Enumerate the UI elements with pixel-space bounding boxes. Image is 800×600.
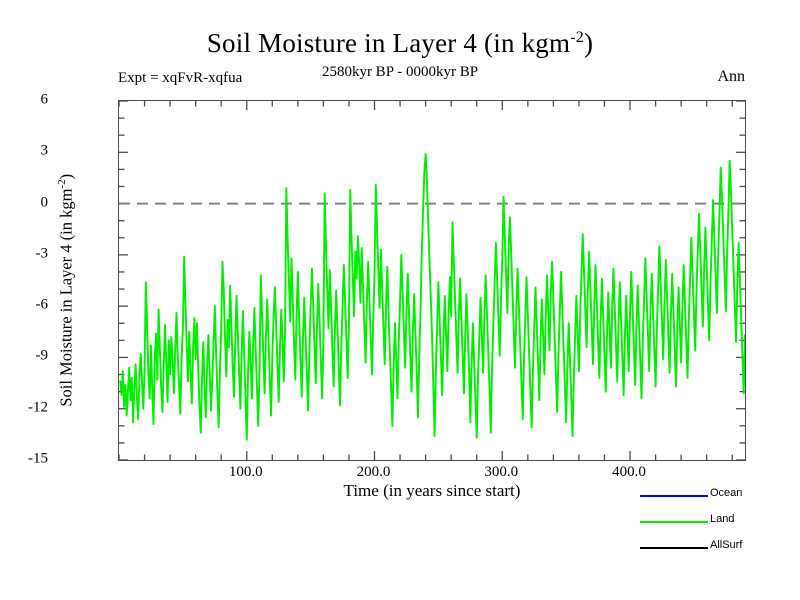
- plot-area: [118, 100, 746, 461]
- page-title-tail: ): [584, 28, 593, 58]
- y-tick-label: -15: [0, 451, 48, 468]
- series-line-land: [120, 154, 745, 439]
- legend-label: Land: [710, 513, 734, 525]
- y-tick-label: -12: [0, 399, 48, 416]
- experiment-label: Expt = xqFvR-xqfua: [118, 70, 242, 87]
- y-tick-label: 6: [0, 92, 48, 109]
- legend-swatch-land: [640, 521, 708, 523]
- y-axis-title: Soil Moisture in Layer 4 (in kgm-2): [56, 120, 77, 460]
- y-tick-label: 3: [0, 143, 48, 160]
- season-label: Ann: [717, 68, 745, 86]
- legend-item-ocean[interactable]: Ocean: [640, 486, 790, 512]
- x-tick-label: 100.0: [211, 464, 281, 481]
- plot-canvas: [119, 101, 745, 460]
- y-tick-label: -9: [0, 348, 48, 365]
- legend-swatch-ocean: [640, 495, 708, 497]
- page-title-superscript: -2: [570, 29, 584, 46]
- y-axis-title-tail: ): [56, 174, 75, 180]
- page-title: Soil Moisture in Layer 4 (in kgm-2): [0, 28, 800, 59]
- y-tick-label: -6: [0, 297, 48, 314]
- x-tick-label: 300.0: [466, 464, 536, 481]
- x-tick-label: 400.0: [594, 464, 664, 481]
- legend-item-land[interactable]: Land: [640, 512, 790, 538]
- legend-swatch-allsurf: [640, 547, 708, 549]
- y-axis-title-text: Soil Moisture in Layer 4 (in kgm: [56, 189, 75, 407]
- legend: OceanLandAllSurf: [640, 486, 790, 564]
- x-tick-label: 200.0: [339, 464, 409, 481]
- y-tick-label: -3: [0, 245, 48, 262]
- page-title-text: Soil Moisture in Layer 4 (in kgm: [207, 28, 570, 58]
- legend-item-allsurf[interactable]: AllSurf: [640, 538, 790, 564]
- y-tick-label: 0: [0, 194, 48, 211]
- legend-label: AllSurf: [710, 539, 742, 551]
- legend-label: Ocean: [710, 487, 742, 499]
- y-axis-title-superscript: -2: [56, 179, 68, 188]
